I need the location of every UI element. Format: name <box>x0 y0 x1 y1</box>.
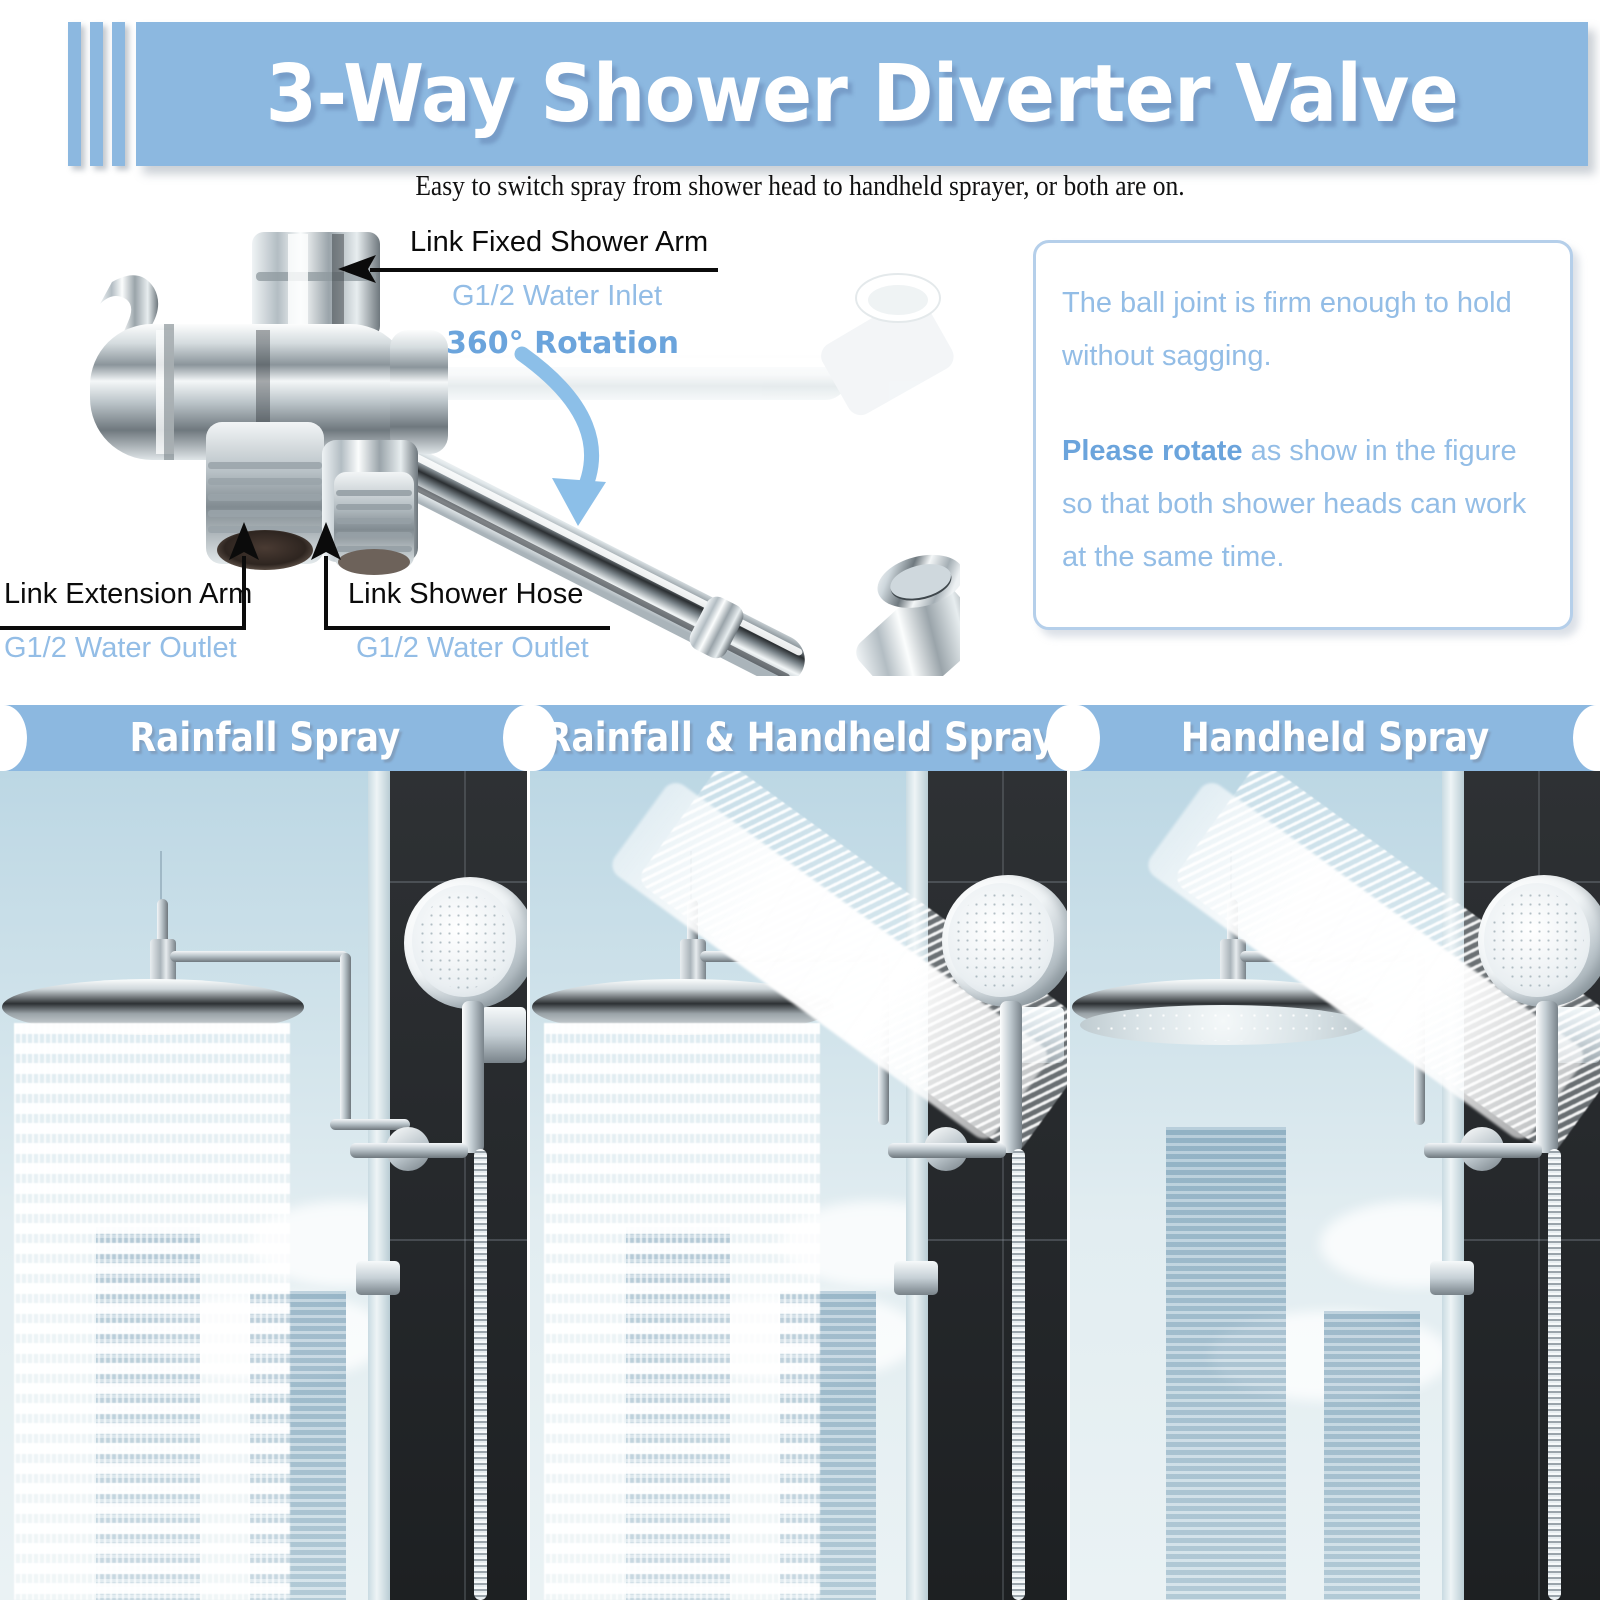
infographic-root: 3-Way Shower Diverter Valve Easy to swit… <box>0 0 1600 1600</box>
label-outlet-shower-hose: Link Shower Hose <box>348 578 583 611</box>
rainfall-arm <box>170 951 348 962</box>
grout-line <box>928 1239 1067 1241</box>
city-tower-glass <box>1324 1311 1420 1600</box>
rainfall-arm-elbow <box>340 953 351 1125</box>
lens-divider-2 <box>1046 705 1100 771</box>
wall-mount <box>356 1261 400 1295</box>
panel-rainfall <box>0 771 527 1600</box>
leader-line-inlet <box>370 268 718 272</box>
handheld-nozzle-dots <box>418 893 510 989</box>
leader-arrow-outlet2 <box>310 522 342 562</box>
decor-bar-3 <box>112 22 125 166</box>
header: 3-Way Shower Diverter Valve <box>0 0 1600 168</box>
shower-hose <box>1548 1149 1561 1600</box>
handheld-handle <box>1000 1001 1022 1153</box>
shower-hose <box>1012 1149 1025 1600</box>
product-diagram: Link Fixed Shower Arm G1/2 Water Inlet 3… <box>0 212 1600 680</box>
ball-joint-cup <box>837 545 960 676</box>
spec-outlet-extension-arm: G1/2 Water Outlet <box>4 632 237 665</box>
panel-rainfall-handheld <box>530 771 1067 1600</box>
diverter-arm <box>888 1143 1006 1158</box>
subtitle: Easy to switch spray from shower head to… <box>96 170 1504 203</box>
page-title: 3-Way Shower Diverter Valve <box>187 22 1537 166</box>
info-paragraph-2: Please rotate as show in the figure so t… <box>1062 425 1544 584</box>
leader-line-outlet1-h <box>0 626 246 630</box>
inlet-nut <box>252 232 380 338</box>
diverter-arm <box>1424 1143 1542 1158</box>
wall-mount <box>894 1261 938 1295</box>
shower-hose <box>474 1149 487 1600</box>
panel-row <box>0 771 1600 1600</box>
leader-arrow-inlet <box>338 254 378 284</box>
rainfall-water-spray <box>14 1023 290 1600</box>
rainfall-water-spray <box>544 1023 820 1600</box>
handheld-handle <box>1536 1001 1558 1153</box>
grout-line <box>390 1239 527 1241</box>
handheld-nozzle-dots <box>954 891 1048 989</box>
info-emphasis: Please rotate <box>1062 435 1243 467</box>
lens-divider-1 <box>503 705 557 771</box>
panel-label-handheld: Handheld Spray <box>1107 705 1563 771</box>
decor-bar-2 <box>90 22 103 166</box>
diverter-arm <box>350 1143 468 1158</box>
info-card: The ball joint is firm enough to hold wi… <box>1033 240 1573 630</box>
label-rotation: 360° Rotation <box>446 326 679 361</box>
spec-outlet-shower-hose: G1/2 Water Outlet <box>356 632 589 665</box>
decor-bar-1 <box>68 22 81 166</box>
handheld-nozzle-dots <box>1490 891 1584 989</box>
panel-label-rainfall: Rainfall Spray <box>37 705 493 771</box>
label-inlet: Link Fixed Shower Arm <box>410 226 708 259</box>
valve-body <box>90 232 448 575</box>
title-banner: 3-Way Shower Diverter Valve <box>136 22 1588 166</box>
label-outlet-extension-arm: Link Extension Arm <box>4 578 252 611</box>
leader-line-outlet2-h <box>324 626 610 630</box>
leader-line-outlet1-v <box>242 556 246 630</box>
outlet-extension-arm <box>206 422 324 570</box>
rainfall-nozzle-dots <box>1092 1009 1354 1041</box>
wall-mount <box>1430 1261 1474 1295</box>
panel-label-rainfall-handheld: Rainfall & Handheld Spray <box>568 705 1032 771</box>
grout-line <box>1464 1239 1600 1241</box>
glass-edge <box>368 771 390 1600</box>
info-paragraph-1: The ball joint is firm enough to hold wi… <box>1062 277 1544 383</box>
panel-handheld <box>1070 771 1600 1600</box>
city-tower-glass <box>1166 1127 1286 1600</box>
spec-inlet: G1/2 Water Inlet <box>452 280 662 313</box>
leader-line-outlet2-v <box>324 556 328 630</box>
leader-arrow-outlet1 <box>228 522 260 562</box>
handheld-handle <box>462 1001 484 1153</box>
